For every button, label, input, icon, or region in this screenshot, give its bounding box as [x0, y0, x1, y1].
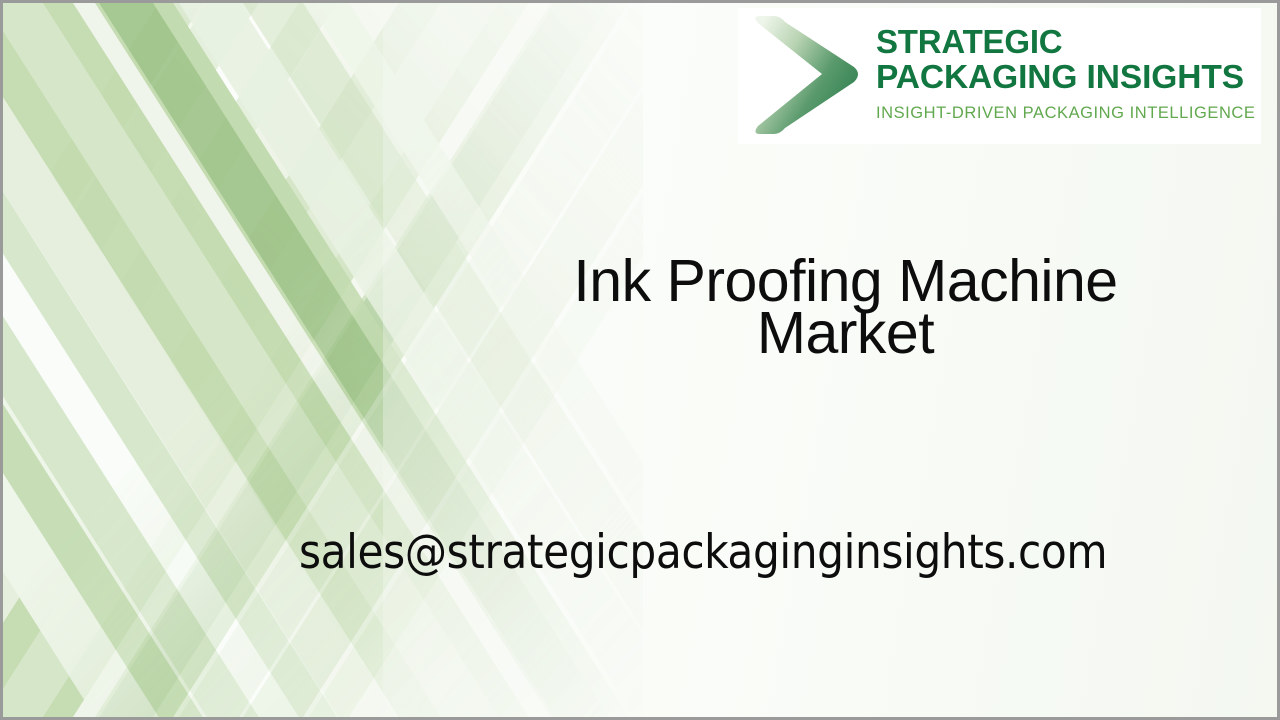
- logo-wordmark-line1: STRATEGIC: [876, 24, 1261, 60]
- green-chevron-stripes-decoration: [3, 3, 643, 717]
- page-title: Ink Proofing Machine Market: [508, 255, 1183, 359]
- contact-email: sales@strategicpackaginginsights.com: [299, 524, 1107, 582]
- presentation-slide: STRATEGIC PACKAGING INSIGHTS INSIGHT-DRI…: [0, 0, 1280, 720]
- logo-wordmark-line2: PACKAGING INSIGHTS: [876, 60, 1261, 96]
- logo-tagline: INSIGHT-DRIVEN PACKAGING INTELLIGENCE: [876, 103, 1261, 123]
- chevron-arrow-mark-icon: [750, 10, 868, 140]
- company-logo: STRATEGIC PACKAGING INSIGHTS INSIGHT-DRI…: [738, 8, 1261, 144]
- logo-text-block: STRATEGIC PACKAGING INSIGHTS INSIGHT-DRI…: [876, 24, 1261, 123]
